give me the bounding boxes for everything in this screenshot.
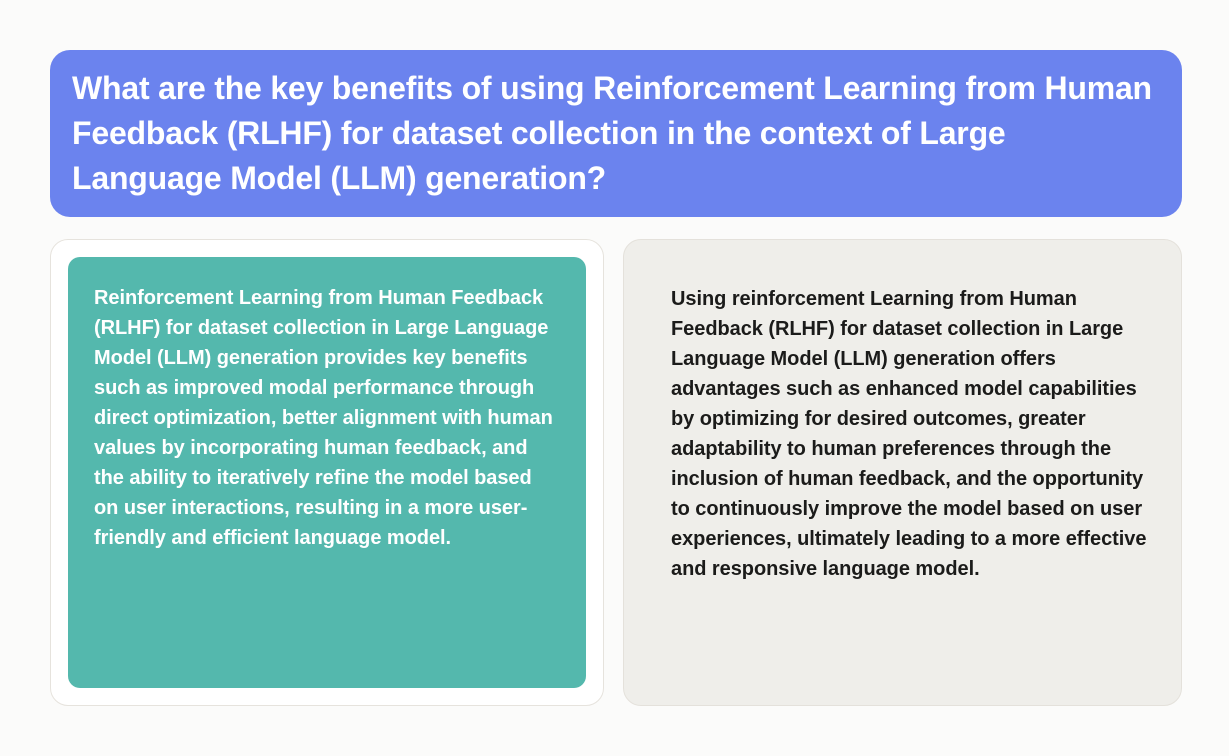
answers-row: Reinforcement Learning from Human Feedba… <box>50 239 1182 706</box>
answer-text-left: Reinforcement Learning from Human Feedba… <box>94 283 558 553</box>
question-text: What are the key benefits of using Reinf… <box>72 66 1152 201</box>
answer-panel-left: Reinforcement Learning from Human Feedba… <box>68 257 586 688</box>
answer-text-right: Using reinforcement Learning from Human … <box>671 284 1151 584</box>
comparison-page: What are the key benefits of using Reinf… <box>0 0 1229 756</box>
answer-card-left[interactable]: Reinforcement Learning from Human Feedba… <box>50 239 604 706</box>
answer-card-right[interactable]: Using reinforcement Learning from Human … <box>623 239 1182 706</box>
question-banner: What are the key benefits of using Reinf… <box>50 50 1182 217</box>
